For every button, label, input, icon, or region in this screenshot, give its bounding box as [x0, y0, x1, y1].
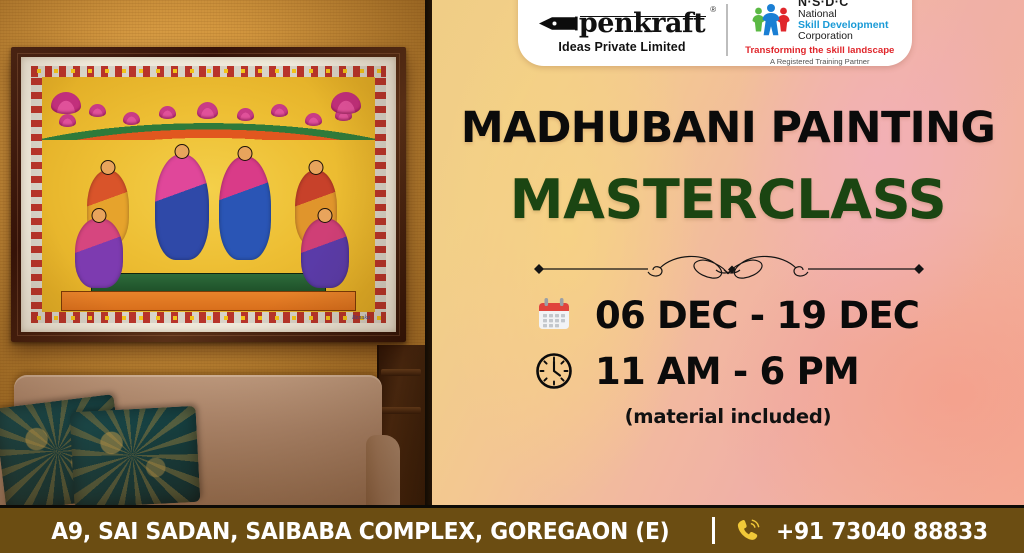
- material-note: (material included): [432, 405, 1024, 428]
- framed-madhubani-painting-photo: Renuka: [0, 0, 425, 505]
- time-text: 11 AM - 6 PM: [595, 350, 925, 393]
- ornamental-flourish-divider-icon: [520, 253, 936, 285]
- calendar-icon: [531, 292, 577, 338]
- penkraft-logo: penkraft ® Ideas Private Limited: [518, 0, 726, 66]
- nsdc-line-3: Corporation: [798, 31, 888, 42]
- photo-vignette: [0, 0, 425, 505]
- time-row: 11 AM - 6 PM: [432, 348, 1024, 394]
- nsdc-tagline: Transforming the skill landscape: [745, 45, 894, 56]
- logo-header-tab: penkraft ® Ideas Private Limited: [518, 0, 912, 66]
- three-people-icon: [751, 2, 791, 36]
- nsdc-logo: N·S·D·C National Skill Development Corpo…: [728, 0, 913, 66]
- panel-divider: [425, 0, 432, 505]
- phone-number: +91 73040 88833: [776, 517, 988, 545]
- event-details: 06 DEC - 19 DEC: [432, 292, 1024, 428]
- date-row: 06 DEC - 19 DEC: [432, 292, 1024, 338]
- fountain-pen-nib-icon: [539, 16, 581, 31]
- contact-footer: A9, SAI SADAN, SAIBABA COMPLEX, GOREGAON…: [0, 505, 1024, 553]
- registered-mark: ®: [710, 5, 716, 14]
- page-title: MADHUBANI PAINTING: [432, 103, 1024, 153]
- clock-icon: [531, 348, 577, 394]
- phone-icon: [734, 517, 761, 544]
- nsdc-subtitle: A Registered Training Partner: [770, 57, 870, 66]
- footer-separator: [712, 517, 715, 544]
- date-text: 06 DEC - 19 DEC: [595, 294, 925, 337]
- address-text: A9, SAI SADAN, SAIBABA COMPLEX, GOREGAON…: [52, 517, 670, 545]
- penkraft-tagline: Ideas Private Limited: [558, 40, 685, 54]
- page-subtitle: MASTERCLASS: [432, 168, 1024, 231]
- content-panel: MADHUBANI PAINTING MASTERCLASS: [432, 0, 1024, 505]
- phone-group[interactable]: +91 73040 88833: [734, 517, 996, 545]
- promotional-banner: Renuka MADHUBANI PAINTING MASTERCLASS: [0, 0, 1024, 553]
- penkraft-wordmark: penkraft: [579, 10, 705, 37]
